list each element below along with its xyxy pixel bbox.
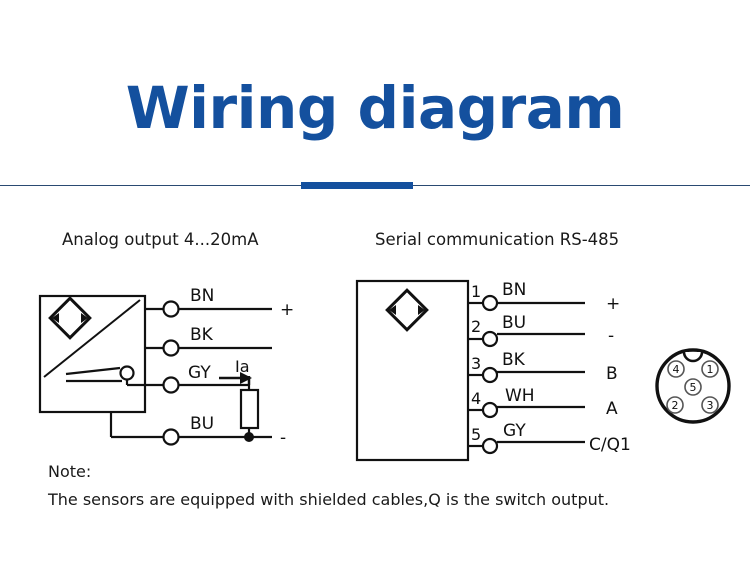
analog-wire-gy: GY Ia bbox=[145, 357, 252, 393]
m12-pin-4-number: 4 bbox=[673, 363, 680, 376]
sensor-diamond-icon bbox=[50, 298, 90, 338]
serial-pin-number-4: 4 bbox=[471, 389, 481, 408]
serial-wire-3: 3 BK B bbox=[468, 350, 618, 384]
section-heading-serial: Serial communication RS-485 bbox=[375, 230, 619, 249]
m12-pin-1: 1 bbox=[702, 361, 718, 377]
serial-pin-number-1: 1 bbox=[471, 282, 481, 301]
serial-wire-2: 2 BU - bbox=[468, 313, 614, 346]
analog-label-bk: BK bbox=[190, 325, 214, 345]
serial-signal-2: - bbox=[608, 326, 614, 346]
serial-signal-3: B bbox=[606, 364, 618, 384]
m12-pin-4: 4 bbox=[668, 361, 684, 377]
serial-pin-number-3: 3 bbox=[471, 354, 481, 373]
m12-pin-5: 5 bbox=[685, 379, 701, 395]
serial-pin-number-2: 2 bbox=[471, 317, 481, 336]
serial-label-bn: BN bbox=[502, 280, 526, 300]
switch-contact-symbol bbox=[66, 367, 145, 386]
serial-wire-1: 1 BN + bbox=[468, 280, 620, 314]
serial-signal-5: C/Q1 bbox=[589, 435, 631, 455]
serial-sensor-body bbox=[357, 281, 468, 460]
analog-wire-bn: BN + bbox=[145, 286, 294, 320]
analog-sensor-body bbox=[40, 296, 145, 412]
serial-label-bu: BU bbox=[502, 313, 526, 333]
analog-current-label: Ia bbox=[235, 357, 250, 376]
section-heading-analog: Analog output 4...20mA bbox=[62, 230, 259, 249]
m12-pin-3-number: 3 bbox=[707, 399, 714, 412]
analog-wire-bu: BU - bbox=[111, 412, 286, 448]
serial-wire-4: 4 WH A bbox=[468, 386, 618, 419]
serial-label-bk: BK bbox=[502, 350, 526, 370]
page-title: Wiring diagram bbox=[0, 74, 750, 142]
serial-label-gy: GY bbox=[503, 421, 526, 441]
m12-pin-3: 3 bbox=[702, 397, 718, 413]
serial-label-wh: WH bbox=[505, 386, 535, 406]
analog-wire-bk: BK bbox=[145, 325, 272, 356]
note-text: The sensors are equipped with shielded c… bbox=[48, 490, 609, 509]
header-divider-accent bbox=[301, 182, 413, 189]
serial-sensor-diamond-icon bbox=[387, 290, 427, 330]
analog-signal-plus: + bbox=[280, 300, 294, 320]
wiring-diagram-page: Wiring diagram Analog output 4...20mA Se… bbox=[0, 0, 750, 581]
analog-signal-minus: - bbox=[280, 428, 286, 448]
m12-pin-5-number: 5 bbox=[690, 381, 697, 394]
m12-pin-1-number: 1 bbox=[707, 363, 714, 376]
note-label: Note: bbox=[48, 462, 91, 481]
current-arrow-icon bbox=[219, 372, 252, 384]
m12-pin-2: 2 bbox=[667, 397, 683, 413]
m12-pin-2-number: 2 bbox=[672, 399, 679, 412]
junction-dot bbox=[244, 432, 254, 442]
load-resistor-symbol bbox=[241, 378, 258, 437]
serial-signal-1: + bbox=[606, 294, 620, 314]
m12-connector-pinout: 4 1 5 2 3 bbox=[657, 350, 729, 422]
serial-pin-number-5: 5 bbox=[471, 425, 481, 444]
analog-label-bn: BN bbox=[190, 286, 214, 306]
serial-wire-5: 5 GY C/Q1 bbox=[468, 421, 631, 455]
analog-label-bu: BU bbox=[190, 414, 214, 434]
analog-label-gy: GY bbox=[188, 363, 211, 383]
serial-signal-4: A bbox=[606, 399, 618, 419]
